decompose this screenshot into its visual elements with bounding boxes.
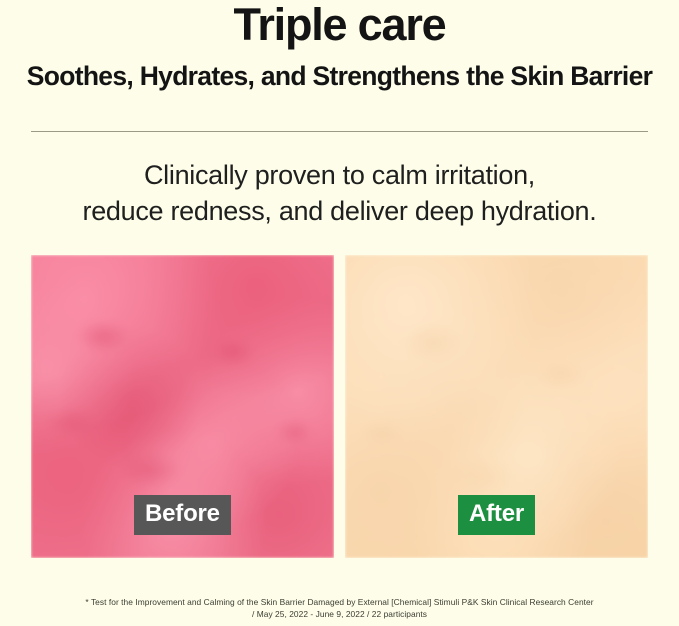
claim-line-1: Clinically proven to calm irritation, xyxy=(0,158,679,194)
after-image-panel: After xyxy=(345,255,648,558)
before-after-comparison: Before After xyxy=(31,255,648,558)
claim-line-2: reduce redness, and deliver deep hydrati… xyxy=(0,194,679,230)
page-subtitle: Soothes, Hydrates, and Strengthens the S… xyxy=(0,62,679,91)
promo-banner: Triple care Soothes, Hydrates, and Stren… xyxy=(0,0,679,626)
footnote: * Test for the Improvement and Calming o… xyxy=(0,596,679,620)
claim-text: Clinically proven to calm irritation, re… xyxy=(0,158,679,230)
page-title: Triple care xyxy=(0,2,679,47)
before-image-panel: Before xyxy=(31,255,334,558)
horizontal-divider xyxy=(31,131,648,132)
footnote-line-2: / May 25, 2022 - June 9, 2022 / 22 parti… xyxy=(0,608,679,620)
before-badge: Before xyxy=(134,495,231,535)
after-badge: After xyxy=(458,495,535,535)
footnote-line-1: * Test for the Improvement and Calming o… xyxy=(0,596,679,608)
